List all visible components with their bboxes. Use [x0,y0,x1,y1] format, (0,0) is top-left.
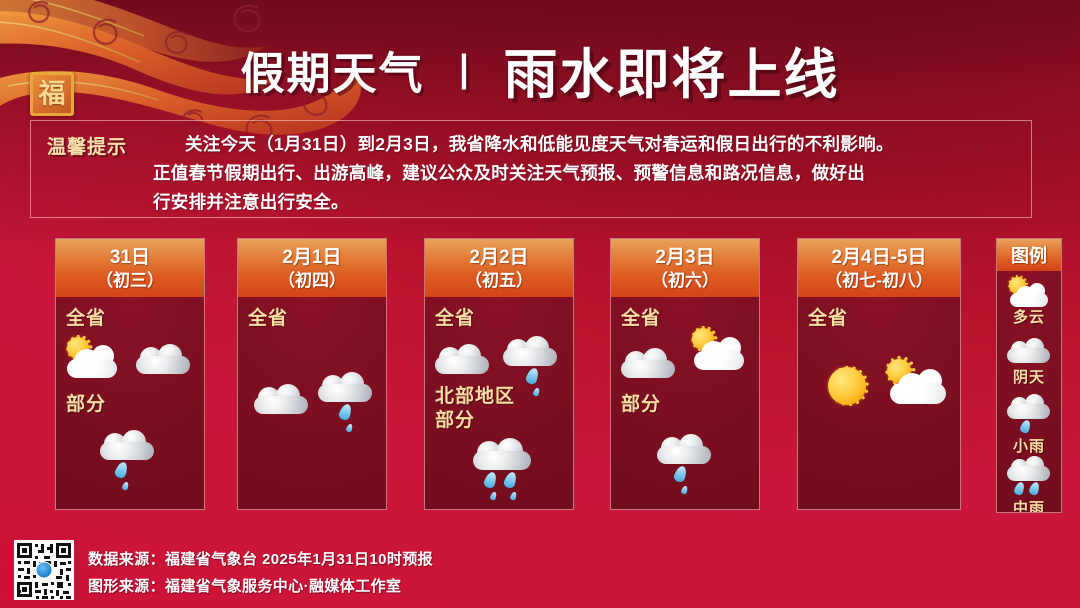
qr-code[interactable] [14,540,74,600]
cloud-overcast-icon [252,383,314,417]
card-scope-primary: 全省 [808,307,848,331]
cloud-rain-light-icon [98,429,162,491]
card-date: 31日 [110,246,150,269]
legend-item-label: 阴天 [997,366,1061,387]
tip-line-1: 关注今天（1月31日）到2月3日，我省降水和低能见度天气对春运和假日出行的不利影… [171,130,1017,159]
legend-item-label: 中雨 [997,497,1061,513]
legend-item: 阴天 [997,333,1061,393]
sun-cloud-icon [62,335,136,381]
card-date: 2月2日 [469,246,528,269]
cloud-rain-light-icon [316,371,380,433]
forecast-card[interactable]: 2月1日 （初四） 全省 [237,238,387,510]
card-header: 2月2日 （初五） [425,239,573,297]
legend-title: 图例 [1011,242,1047,268]
page-title-separator: 丨 [445,53,483,95]
cloud-rain-moderate-icon [471,437,543,505]
cloud-overcast-icon [997,333,1062,369]
card-scope-secondary: 部分 [66,393,106,417]
legend-panel: 图例 [996,238,1062,513]
cloud-overcast-icon [433,343,495,377]
page-title-part1: 假期天气 [241,50,425,99]
card-body: 全省 [611,297,759,510]
card-lunar-date: （初四） [278,270,346,291]
card-scope-primary: 全省 [248,307,288,331]
card-date: 2月4日-5日 [831,246,926,269]
card-scope-secondary-b: 部分 [435,409,475,433]
card-header: 2月4日-5日 （初七-初八） [798,239,960,297]
card-header: 2月1日 （初四） [238,239,386,297]
card-header: 2月3日 （初六） [611,239,759,297]
card-scope-primary: 全省 [621,307,661,331]
sun-cloud-icon [876,355,954,409]
forecast-card-row: 31日 （初三） 全省 [0,238,1080,513]
card-body: 全省 北部地区 部分 [425,297,573,510]
legend-item-label: 小雨 [997,435,1061,456]
legend-item: 小雨 [997,393,1061,453]
qr-logo [36,562,53,579]
cloud-overcast-icon [619,347,681,381]
forecast-card[interactable]: 2月4日-5日 （初七-初八） 全省 [797,238,961,510]
card-date: 2月1日 [282,246,341,269]
card-date: 2月3日 [655,246,714,269]
page-title: 假期天气 丨 雨水即将上线 [0,30,1080,109]
tip-line-2: 正值春节假期出行、出游高峰，建议公众及时关注天气预报、预警信息和路况信息，做好出 [153,159,1017,188]
page-title-part2: 雨水即将上线 [503,45,839,105]
legend-body: 多云 阴天 小雨 [997,271,1061,512]
card-scope-primary: 全省 [435,307,475,331]
card-header: 31日 （初三） [56,239,204,297]
legend-item: 多云 [997,273,1061,333]
qr-code-pattern [16,542,72,598]
cloud-rain-moderate-icon [997,455,1062,499]
tip-text: 关注今天（1月31日）到2月3日，我省降水和低能见度天气对春运和假日出行的不利影… [171,130,1017,217]
card-body: 全省 [798,297,960,510]
forecast-card[interactable]: 2月3日 （初六） 全省 [610,238,760,510]
card-scope-secondary-a: 北部地区 [435,385,515,409]
card-scope-primary: 全省 [66,307,106,331]
cloud-overcast-icon [134,343,196,377]
sun-cloud-icon [681,325,757,375]
card-body: 全省 [238,297,386,510]
card-lunar-date: （初五） [465,270,533,291]
cloud-rain-light-icon [655,433,719,495]
card-body: 全省 [56,297,204,510]
sun-icon [816,355,878,417]
tip-label: 温馨提示 [47,132,127,159]
card-lunar-date: （初七-初八） [825,270,933,291]
footer-graphic-source: 图形来源：福建省气象服务中心·融媒体工作室 [88,575,401,596]
footer-data-source: 数据来源：福建省气象台 2025年1月31日10时预报 [88,548,433,569]
legend-item-label: 多云 [997,306,1061,327]
cloud-rain-light-icon [997,393,1062,437]
tip-line-3: 行安排并注意出行安全。 [153,188,1017,217]
card-scope-secondary: 部分 [621,393,661,417]
card-lunar-date: （初三） [96,270,164,291]
footer: 数据来源：福建省气象台 2025年1月31日10时预报 图形来源：福建省气象服务… [0,530,1080,608]
card-lunar-date: （初六） [651,270,719,291]
sun-cloud-icon [997,273,1062,309]
legend-item: 中雨 [997,455,1061,513]
forecast-card[interactable]: 31日 （初三） 全省 [55,238,205,510]
legend-header: 图例 [997,239,1061,271]
forecast-card[interactable]: 2月2日 （初五） 全省 北部地区 部分 [424,238,574,510]
tip-box: 温馨提示 关注今天（1月31日）到2月3日，我省降水和低能见度天气对春运和假日出… [30,120,1032,218]
